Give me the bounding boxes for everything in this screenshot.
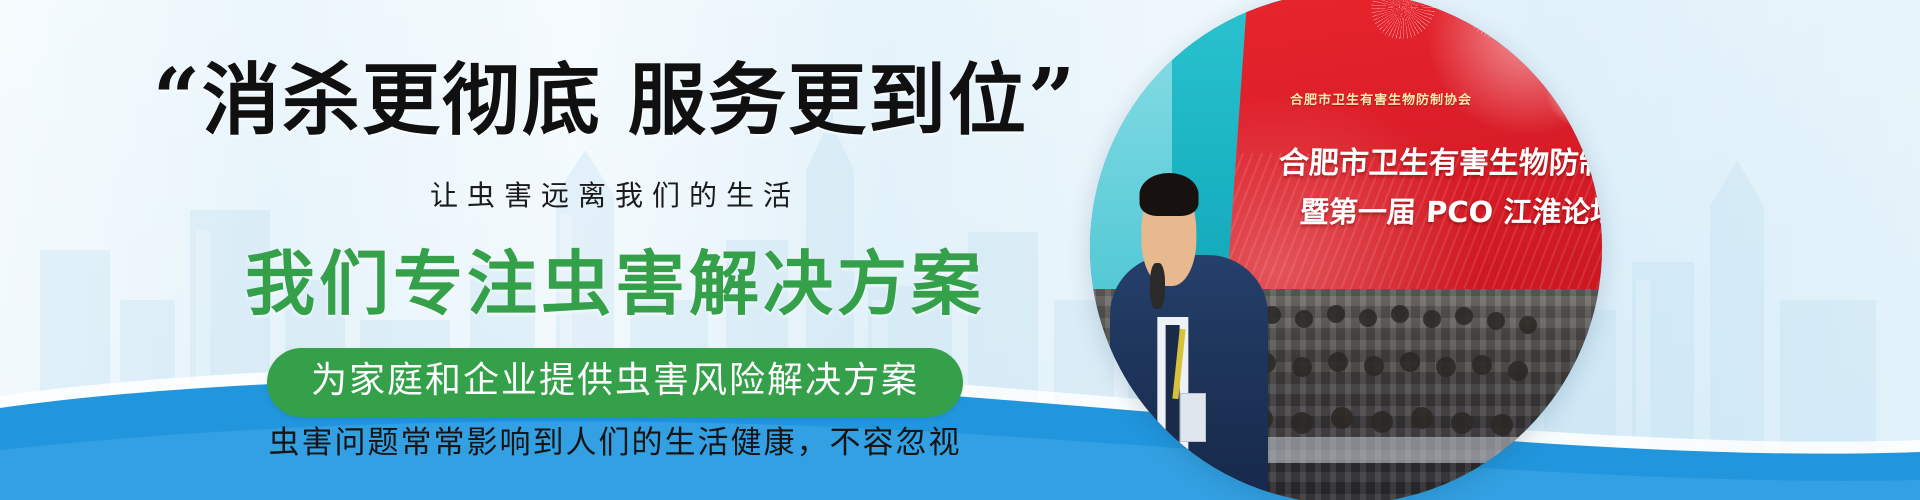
- headline-part1: 消杀更彻底: [202, 56, 602, 146]
- speaker-figure: [1095, 115, 1279, 500]
- event-title-line1: 合肥市卫生有害生物防制协会2023: [1278, 138, 1602, 182]
- association-name-small: 合肥市卫生有害生物防制协会: [1289, 89, 1472, 108]
- sub-headline: 让虫害远离我们的生活: [0, 182, 1230, 210]
- green-headline: 我们专注虫害解决方案: [0, 248, 1230, 322]
- event-photo-circle: 合肥市卫生有害生物防制协会 合肥市卫生有害生物防制协会2023 暨第一届 PCO…: [1090, 0, 1602, 500]
- event-photo: 合肥市卫生有害生物防制协会 合肥市卫生有害生物防制协会2023 暨第一届 PCO…: [1090, 0, 1602, 500]
- open-quote: “: [153, 51, 202, 147]
- headline: “消杀更彻底服务更到位”: [0, 58, 1230, 140]
- value-proposition-pill[interactable]: 为家庭和企业提供虫害风险解决方案: [267, 348, 963, 417]
- speaker-hair: [1139, 173, 1198, 216]
- microphone-icon: [1150, 263, 1165, 310]
- tagline: 虫害问题常常影响到人们的生活健康，不容忽视: [0, 428, 1230, 459]
- promo-banner: “消杀更彻底服务更到位” 让虫害远离我们的生活 我们专注虫害解决方案 为家庭和企…: [0, 0, 1920, 500]
- speaker-suit: [1110, 255, 1269, 500]
- event-title-line2: 暨第一届 PCO 江淮论坛大会: [1299, 189, 1602, 231]
- pill-wrapper: 为家庭和企业提供虫害风险解决方案: [0, 348, 1230, 417]
- speaker-badge: [1180, 393, 1206, 442]
- banner-copy: “消杀更彻底服务更到位” 让虫害远离我们的生活 我们专注虫害解决方案 为家庭和企…: [0, 0, 1230, 500]
- headline-part2: 服务更到位: [628, 56, 1028, 146]
- close-quote-inline: ”: [1028, 51, 1077, 147]
